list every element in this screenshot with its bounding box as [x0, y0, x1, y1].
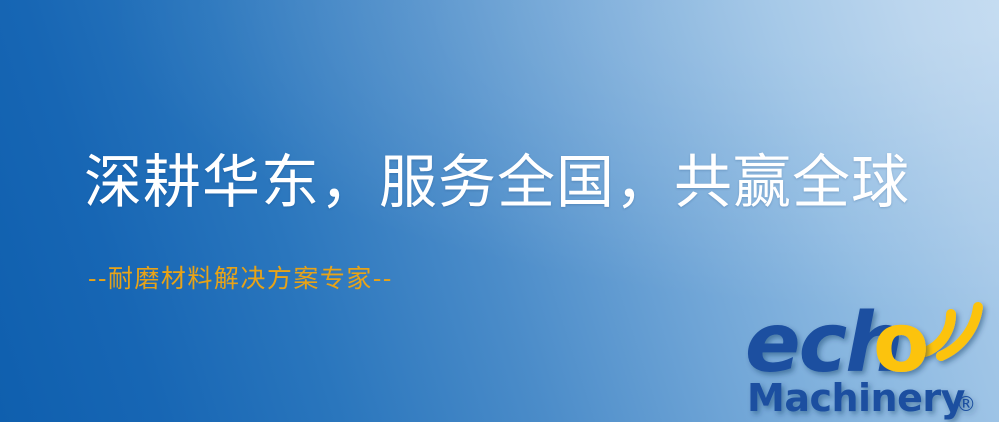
logo-tagline: Machinery: [747, 376, 966, 420]
echo-wave-arcs-icon: [925, 307, 978, 356]
logo-registered-mark-icon: ®: [956, 392, 976, 416]
promo-banner: 深耕华东，服务全国，共赢全球 --耐磨材料解决方案专家-- ech o Mach…: [0, 0, 999, 422]
echo-machinery-logo[interactable]: ech o Machinery ®: [745, 298, 999, 422]
banner-headline: 深耕华东，服务全国，共赢全球: [84, 152, 910, 213]
logo-graphic: ech o Machinery ®: [745, 298, 999, 422]
banner-subtitle: --耐磨材料解决方案专家--: [88, 265, 393, 293]
